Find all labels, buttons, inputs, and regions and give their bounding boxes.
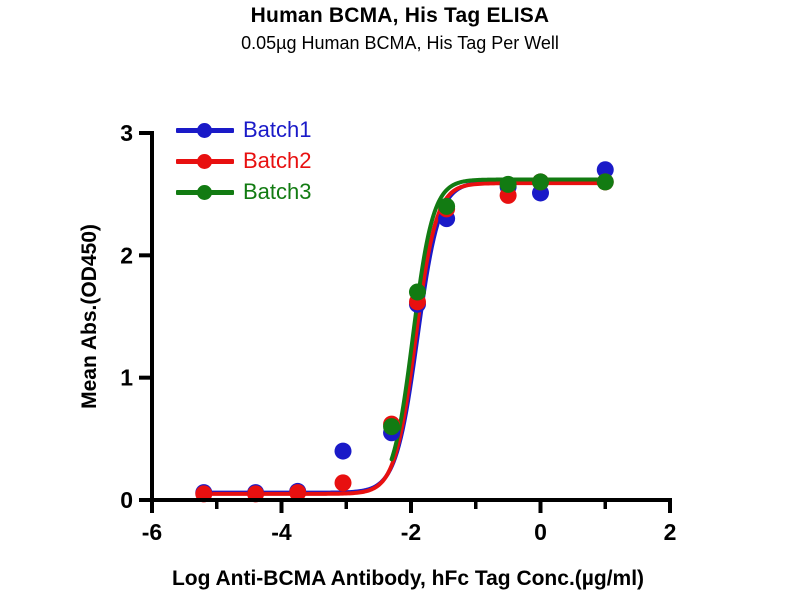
data-point [335, 443, 352, 460]
plot-area: 0123-6-4-202 Log Anti-BCMA Antibody, hFc… [0, 0, 800, 600]
series-curves [204, 179, 605, 493]
line-marker-icon [176, 182, 234, 202]
legend-label: Batch1 [243, 119, 312, 141]
plot-svg: 0123-6-4-202 Log Anti-BCMA Antibody, hFc… [0, 0, 800, 600]
svg-text:-2: -2 [401, 519, 421, 545]
legend-item-batch2[interactable]: Batch2 [176, 145, 312, 176]
data-point [532, 173, 549, 190]
svg-text:2: 2 [664, 519, 677, 545]
legend: Batch1 Batch2 Batch3 [176, 114, 312, 207]
svg-text:Mean Abs.(OD450): Mean Abs.(OD450) [78, 224, 101, 409]
series-points [195, 161, 613, 502]
legend-item-batch3[interactable]: Batch3 [176, 176, 312, 207]
legend-item-batch1[interactable]: Batch1 [176, 114, 312, 145]
svg-text:Log Anti-BCMA Antibody, hFc Ta: Log Anti-BCMA Antibody, hFc Tag Conc.(µg… [172, 567, 644, 590]
data-point [438, 198, 455, 215]
data-point [500, 176, 517, 193]
svg-text:2: 2 [120, 242, 133, 268]
svg-text:-6: -6 [142, 519, 162, 545]
data-point [383, 418, 400, 435]
line-marker-icon [176, 151, 234, 171]
svg-text:0: 0 [534, 519, 547, 545]
svg-text:-4: -4 [271, 519, 292, 545]
legend-label: Batch2 [243, 150, 312, 172]
chart-page: Human BCMA, His Tag ELISA 0.05µg Human B… [0, 0, 800, 600]
svg-text:0: 0 [120, 487, 133, 513]
line-marker-icon [176, 120, 234, 140]
data-point [597, 173, 614, 190]
svg-text:3: 3 [120, 120, 133, 146]
data-point [409, 284, 426, 301]
svg-text:1: 1 [120, 365, 133, 391]
data-point [335, 474, 352, 491]
legend-label: Batch3 [243, 181, 312, 203]
axis-labels: Log Anti-BCMA Antibody, hFc Tag Conc.(µg… [78, 224, 644, 590]
